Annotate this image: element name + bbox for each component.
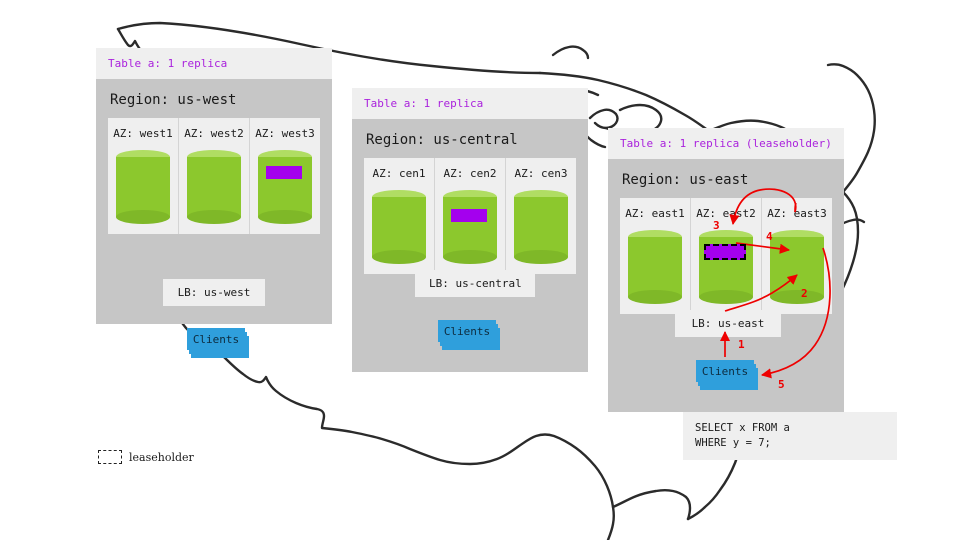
cylinder-bottom-icon bbox=[116, 210, 170, 224]
load-balancer-us-east[interactable]: LB: us-east bbox=[675, 310, 781, 337]
clients-stack-us-central[interactable]: Clients bbox=[438, 320, 498, 344]
region-title-us-west: Region: us-west bbox=[96, 79, 332, 118]
clients-label-us-central: Clients bbox=[438, 320, 496, 342]
legend-leaseholder: leaseholder bbox=[98, 450, 194, 464]
az-label-east3: AZ: east3 bbox=[762, 207, 832, 220]
cylinder-bottom-icon bbox=[514, 250, 568, 264]
diagram-canvas: Table a: 1 replica Region: us-west AZ: w… bbox=[0, 0, 960, 540]
az-cell-east2[interactable]: AZ: east2 bbox=[691, 198, 762, 314]
az-cell-west1[interactable]: AZ: west1 bbox=[108, 118, 179, 234]
cylinder-bottom-icon bbox=[258, 210, 312, 224]
cylinder-body-icon bbox=[116, 157, 170, 217]
replica-block-east2-leaseholder[interactable] bbox=[704, 244, 746, 260]
cylinder-body-icon bbox=[628, 237, 682, 297]
sql-query-box: SELECT x FROM a WHERE y = 7; bbox=[683, 412, 897, 460]
clients-label-us-west: Clients bbox=[187, 328, 245, 350]
node-cylinder-west3[interactable] bbox=[258, 150, 312, 224]
az-cell-east1[interactable]: AZ: east1 bbox=[620, 198, 691, 314]
az-cell-west2[interactable]: AZ: west2 bbox=[179, 118, 250, 234]
arrow-number-2: 2 bbox=[801, 287, 808, 300]
az-label-west2: AZ: west2 bbox=[179, 127, 249, 140]
az-label-east1: AZ: east1 bbox=[620, 207, 690, 220]
load-balancer-us-west[interactable]: LB: us-west bbox=[163, 279, 265, 306]
region-header-us-west: Table a: 1 replica bbox=[96, 48, 332, 79]
az-cell-cen2[interactable]: AZ: cen2 bbox=[435, 158, 506, 274]
node-cylinder-east3[interactable] bbox=[770, 230, 824, 304]
node-cylinder-cen1[interactable] bbox=[372, 190, 426, 264]
cylinder-bottom-icon bbox=[770, 290, 824, 304]
region-header-us-east: Table a: 1 replica (leaseholder) bbox=[608, 128, 844, 159]
cylinder-bottom-icon bbox=[372, 250, 426, 264]
load-balancer-us-central[interactable]: LB: us-central bbox=[415, 270, 535, 297]
arrow-number-3: 3 bbox=[713, 219, 720, 232]
node-cylinder-east1[interactable] bbox=[628, 230, 682, 304]
az-label-east2: AZ: east2 bbox=[691, 207, 761, 220]
cylinder-body-icon bbox=[187, 157, 241, 217]
az-cell-east3[interactable]: AZ: east3 bbox=[762, 198, 832, 314]
az-label-west1: AZ: west1 bbox=[108, 127, 178, 140]
cylinder-bottom-icon bbox=[699, 290, 753, 304]
node-cylinder-west2[interactable] bbox=[187, 150, 241, 224]
clients-stack-us-west[interactable]: Clients bbox=[187, 328, 247, 352]
cylinder-body-icon bbox=[770, 237, 824, 297]
cylinder-bottom-icon bbox=[443, 250, 497, 264]
az-cell-cen1[interactable]: AZ: cen1 bbox=[364, 158, 435, 274]
cylinder-bottom-icon bbox=[628, 290, 682, 304]
az-label-west3: AZ: west3 bbox=[250, 127, 320, 140]
region-title-us-east: Region: us-east bbox=[608, 159, 844, 198]
az-cell-cen3[interactable]: AZ: cen3 bbox=[506, 158, 576, 274]
az-label-cen2: AZ: cen2 bbox=[435, 167, 505, 180]
cylinder-body-icon bbox=[514, 197, 568, 257]
node-cylinder-west1[interactable] bbox=[116, 150, 170, 224]
region-title-us-central: Region: us-central bbox=[352, 119, 588, 158]
legend-label: leaseholder bbox=[129, 451, 194, 464]
az-row-us-west: AZ: west1 AZ: west2 AZ: west3 bbox=[108, 118, 320, 234]
node-cylinder-cen3[interactable] bbox=[514, 190, 568, 264]
az-cell-west3[interactable]: AZ: west3 bbox=[250, 118, 320, 234]
az-label-cen3: AZ: cen3 bbox=[506, 167, 576, 180]
az-row-us-central: AZ: cen1 AZ: cen2 AZ: cen3 bbox=[364, 158, 576, 274]
clients-stack-us-east[interactable]: Clients bbox=[696, 360, 756, 384]
replica-block-cen2[interactable] bbox=[451, 209, 487, 222]
region-panel-us-central: Table a: 1 replica Region: us-central AZ… bbox=[352, 88, 588, 372]
region-header-us-central: Table a: 1 replica bbox=[352, 88, 588, 119]
node-cylinder-cen2[interactable] bbox=[443, 190, 497, 264]
cylinder-bottom-icon bbox=[187, 210, 241, 224]
clients-label-us-east: Clients bbox=[696, 360, 754, 382]
arrow-number-1: 1 bbox=[738, 338, 745, 351]
region-panel-us-east: Table a: 1 replica (leaseholder) Region:… bbox=[608, 128, 844, 412]
cylinder-body-icon bbox=[372, 197, 426, 257]
replica-block-west3[interactable] bbox=[266, 166, 302, 179]
cylinder-body-icon bbox=[443, 197, 497, 257]
region-panel-us-west: Table a: 1 replica Region: us-west AZ: w… bbox=[96, 48, 332, 324]
az-label-cen1: AZ: cen1 bbox=[364, 167, 434, 180]
node-cylinder-east2[interactable] bbox=[699, 230, 753, 304]
arrow-number-4: 4 bbox=[766, 230, 773, 243]
arrow-number-5: 5 bbox=[778, 378, 785, 391]
dashed-rect-icon bbox=[98, 450, 122, 464]
